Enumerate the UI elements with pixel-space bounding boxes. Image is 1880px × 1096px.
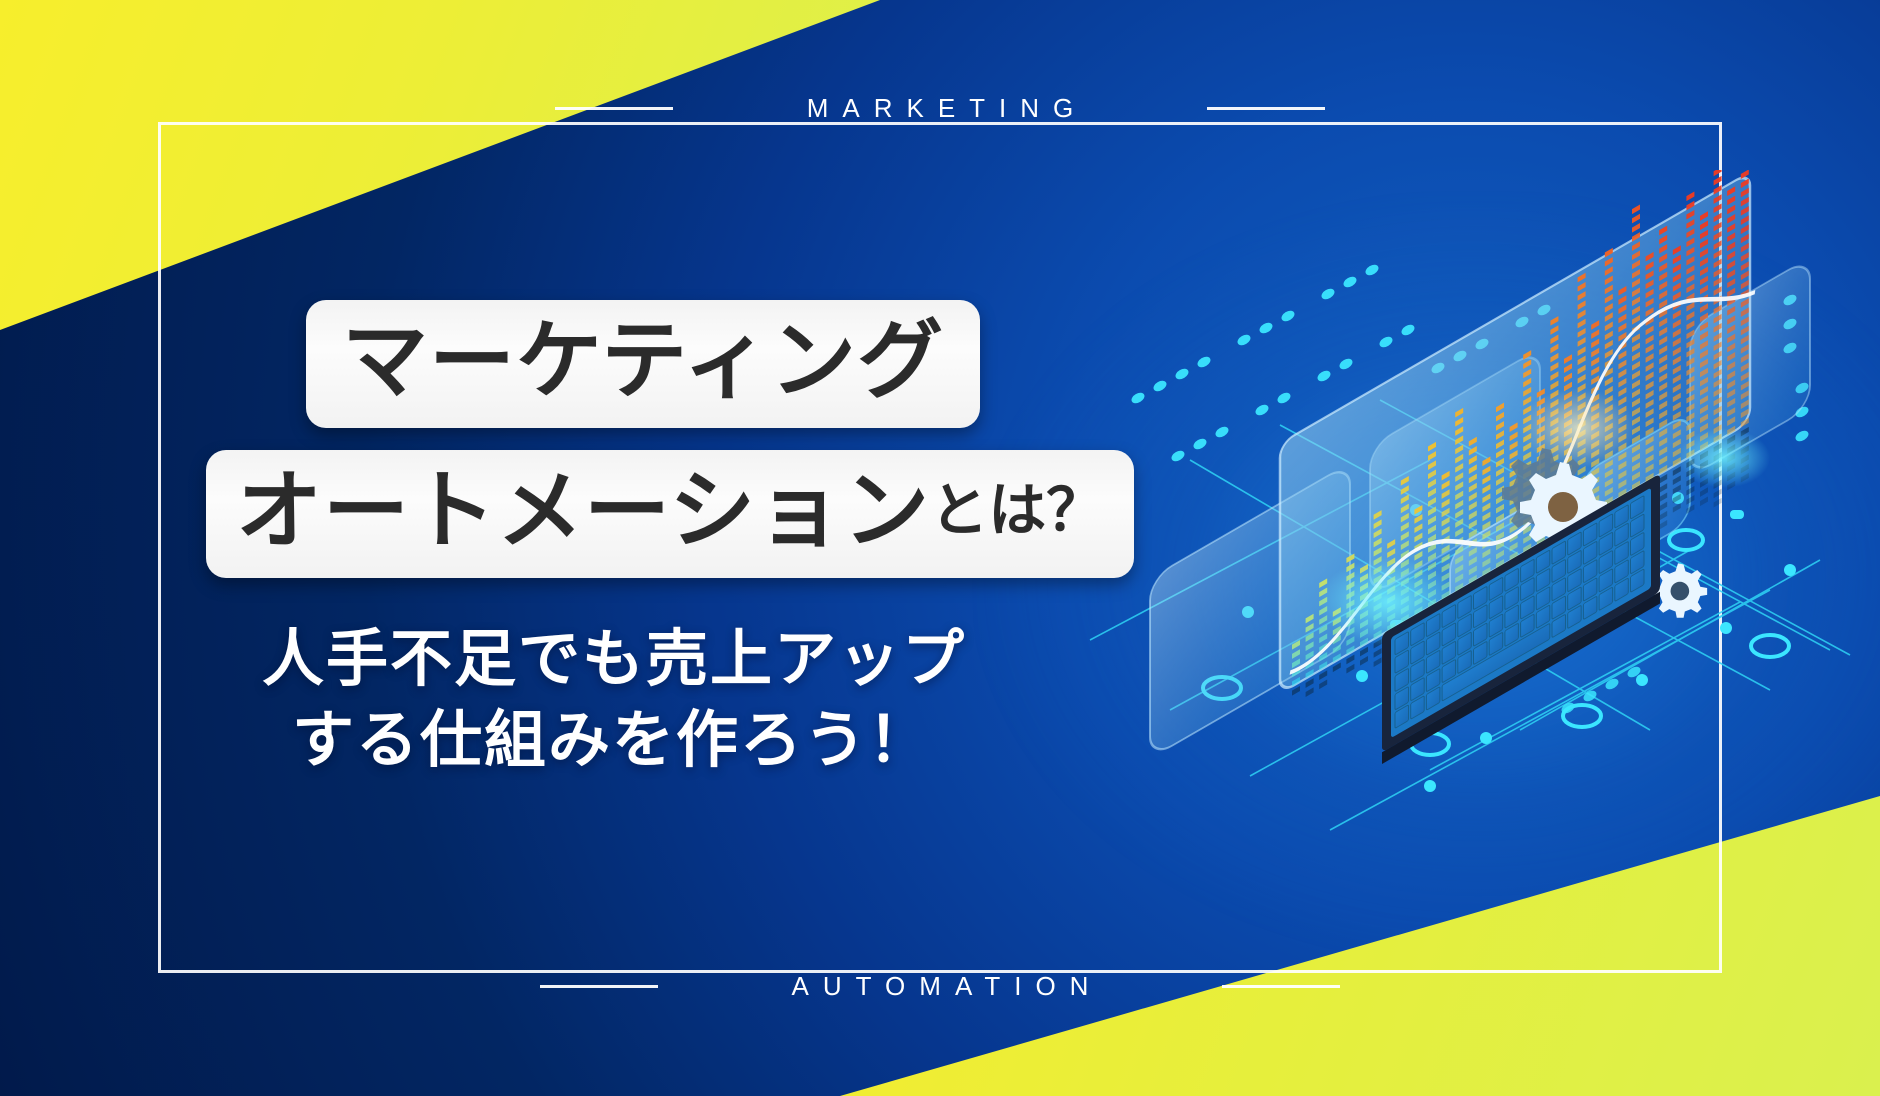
glow-hotspot-warm: [1520, 388, 1636, 468]
eyebrow-rule-left: [555, 107, 673, 110]
eyebrow-rule-right: [1207, 107, 1325, 110]
footer-label: AUTOMATION: [778, 971, 1103, 1002]
isometric-dashboard-illustration: [1130, 210, 1850, 830]
headline-pill-2: オートメーションとは？: [206, 450, 1134, 578]
footer-rule-left: [540, 985, 658, 988]
headline-pill-2-wrap: オートメーションとは？: [206, 428, 1136, 578]
headline-pill-1-wrap: マーケティング: [206, 300, 1136, 428]
eyebrow-row: MARKETING: [158, 93, 1722, 124]
headline-pill-2-suffix: とは？: [930, 474, 1104, 548]
glow-hotspot-cyan-2: [1678, 428, 1770, 488]
footer-rule-right: [1222, 985, 1340, 988]
subcopy-block: 人手不足でも売上アップ する仕組みを作ろう！: [206, 620, 1136, 781]
headline-pill-1: マーケティング: [306, 300, 980, 428]
headline-block: マーケティング オートメーションとは？ 人手不足でも売上アップ する仕組みを作ろ…: [206, 300, 1136, 781]
subcopy-line-2: する仕組みを作ろう！: [206, 701, 1136, 782]
subcopy-line-1: 人手不足でも売上アップ: [206, 620, 1136, 701]
footer-row: AUTOMATION: [158, 971, 1722, 1002]
eyebrow-label: MARKETING: [793, 93, 1088, 124]
headline-pill-2-main: オートメーション: [236, 456, 930, 566]
gear-icon-small: [1653, 563, 1707, 618]
banner-canvas: MARKETING AUTOMATION マーケティング オートメーションとは？…: [0, 0, 1880, 1096]
